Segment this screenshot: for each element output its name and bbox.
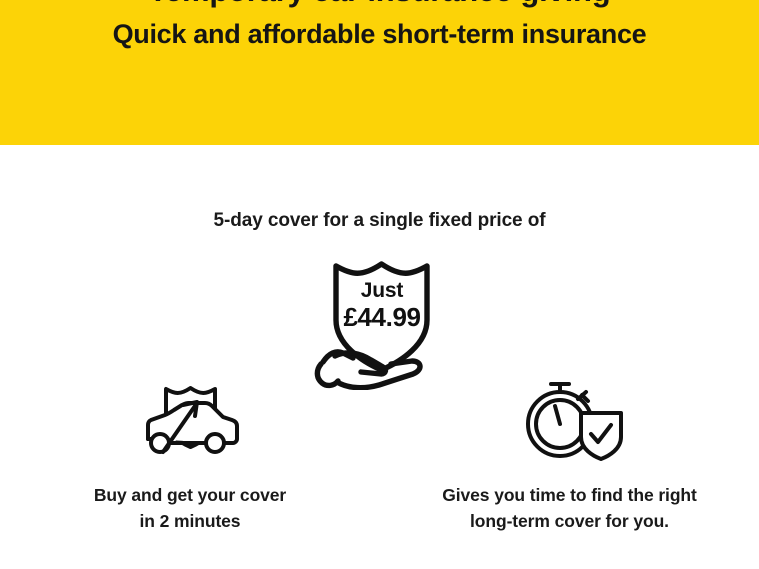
stopwatch-with-check-shield-icon [515, 373, 625, 461]
hero-banner: Temporary car insurance giving Quick and… [0, 0, 759, 145]
price-lead-text: 5-day cover for a single fixed price of [0, 210, 759, 232]
car-with-shield-and-up-arrow-icon [135, 373, 245, 461]
feature-item-buy-fast: Buy and get your cover in 2 minutes [0, 373, 380, 534]
feature-caption-buy-fast: Buy and get your cover in 2 minutes [94, 482, 286, 534]
feature-caption-line1: Buy and get your cover [94, 485, 286, 505]
feature-caption-line2: in 2 minutes [94, 508, 286, 534]
shield-in-hand-icon [313, 258, 451, 390]
hero-overline-clipped-heading: Temporary car insurance giving [0, 0, 759, 8]
hero-subtitle: Quick and affordable short-term insuranc… [0, 17, 759, 51]
features-row: Buy and get your cover in 2 minutes Give… [0, 373, 759, 534]
feature-caption-line2: long-term cover for you. [442, 508, 696, 534]
main-content: 5-day cover for a single fixed price of … [0, 145, 759, 569]
feature-caption-line1: Gives you time to find the right [442, 485, 696, 505]
feature-caption-time-to-find: Gives you time to find the right long-te… [442, 482, 696, 534]
feature-item-time-to-find: Gives you time to find the right long-te… [380, 373, 759, 534]
